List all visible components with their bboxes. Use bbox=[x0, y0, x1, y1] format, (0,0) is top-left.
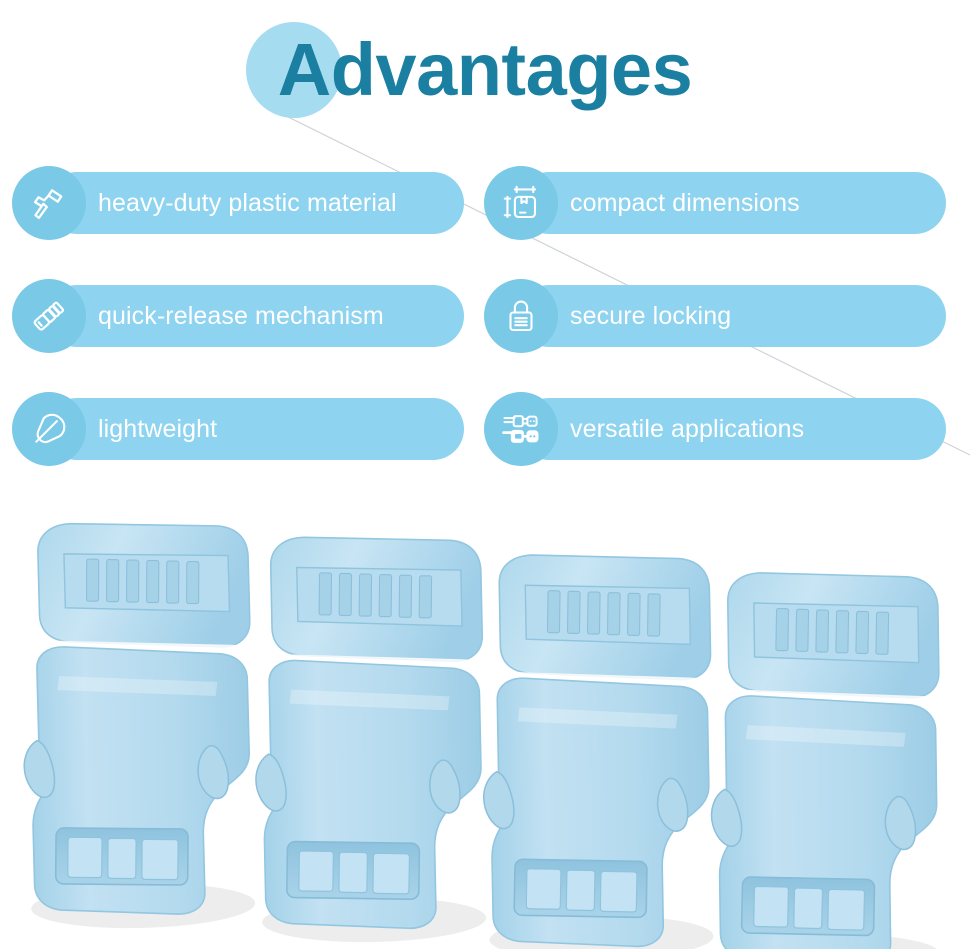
feature-row: heavy-duty plastic material bbox=[0, 172, 970, 285]
package-dimensions-icon bbox=[484, 166, 558, 240]
feature-label: versatile applications bbox=[570, 415, 804, 444]
buckle-1 bbox=[18, 519, 258, 931]
hammer-icon bbox=[12, 166, 86, 240]
feature-label: lightweight bbox=[98, 415, 217, 444]
feature-pill-compact-dimensions[interactable]: compact dimensions bbox=[484, 172, 946, 234]
buckle-4 bbox=[708, 570, 943, 949]
padlock-icon bbox=[484, 279, 558, 353]
product-photo-buckles bbox=[0, 498, 970, 949]
feature-label: secure locking bbox=[570, 302, 731, 331]
advantages-infographic: Advantages heavy-duty plastic material bbox=[0, 0, 970, 949]
feature-label: heavy-duty plastic material bbox=[98, 189, 397, 218]
buckle-3 bbox=[480, 552, 716, 949]
buckle-2 bbox=[251, 534, 489, 945]
feature-list: heavy-duty plastic material bbox=[0, 172, 970, 511]
feature-row: lightweight bbox=[0, 398, 970, 511]
buckle-pair-icon bbox=[484, 392, 558, 466]
feature-pill-secure-locking[interactable]: secure locking bbox=[484, 285, 946, 347]
buckle-strap-icon bbox=[12, 279, 86, 353]
feature-pill-quick-release-mechanism[interactable]: quick-release mechanism bbox=[12, 285, 464, 347]
feature-pill-versatile-applications[interactable]: versatile applications bbox=[484, 398, 946, 460]
title-block: Advantages bbox=[0, 8, 970, 126]
feather-icon bbox=[12, 392, 86, 466]
feature-pill-lightweight[interactable]: lightweight bbox=[12, 398, 464, 460]
page-title: Advantages bbox=[0, 22, 970, 118]
feature-row: quick-release mechanism secure locking bbox=[0, 285, 970, 398]
feature-pill-heavy-duty-plastic-material[interactable]: heavy-duty plastic material bbox=[12, 172, 464, 234]
feature-label: compact dimensions bbox=[570, 189, 800, 218]
feature-label: quick-release mechanism bbox=[98, 302, 384, 331]
